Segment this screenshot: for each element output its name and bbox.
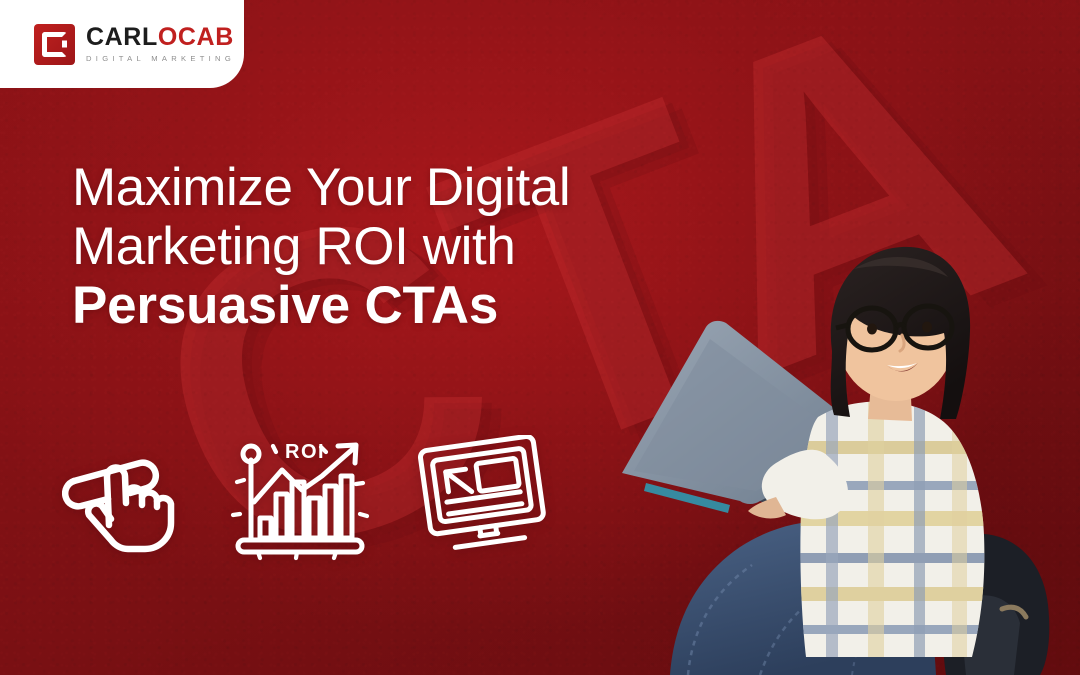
headline: Maximize Your Digital Marketing ROI with… — [72, 158, 570, 335]
brand-name: CARLOCAB — [86, 25, 235, 51]
brand-wordmark: CARLOCAB DIGITAL MARKETING — [86, 25, 235, 63]
brand-logo[interactable]: CARLOCAB DIGITAL MARKETING — [34, 24, 235, 65]
roi-bar-chart-icon: ROI — [230, 432, 370, 562]
headline-line-1: Maximize Your Digital — [72, 158, 570, 217]
feature-icon-row: ROI — [62, 432, 548, 562]
click-hand-icon — [62, 437, 182, 557]
roi-chart-label: ROI — [285, 441, 325, 463]
brand-name-part-2: OCAB — [158, 23, 234, 51]
headline-line-2: Marketing ROI with — [72, 217, 570, 276]
headline-line-3: Persuasive CTAs — [72, 276, 570, 335]
woman-with-laptop-photo — [610, 205, 1080, 675]
brand-tagline: DIGITAL MARKETING — [86, 54, 235, 63]
brand-name-part-1: CARL — [86, 23, 158, 51]
landing-page-monitor-icon — [418, 435, 548, 560]
marketing-banner: CTA — [0, 0, 1080, 675]
brand-logo-panel[interactable]: CARLOCAB DIGITAL MARKETING — [0, 0, 244, 88]
carl-ocab-c-mark-icon — [34, 24, 75, 65]
